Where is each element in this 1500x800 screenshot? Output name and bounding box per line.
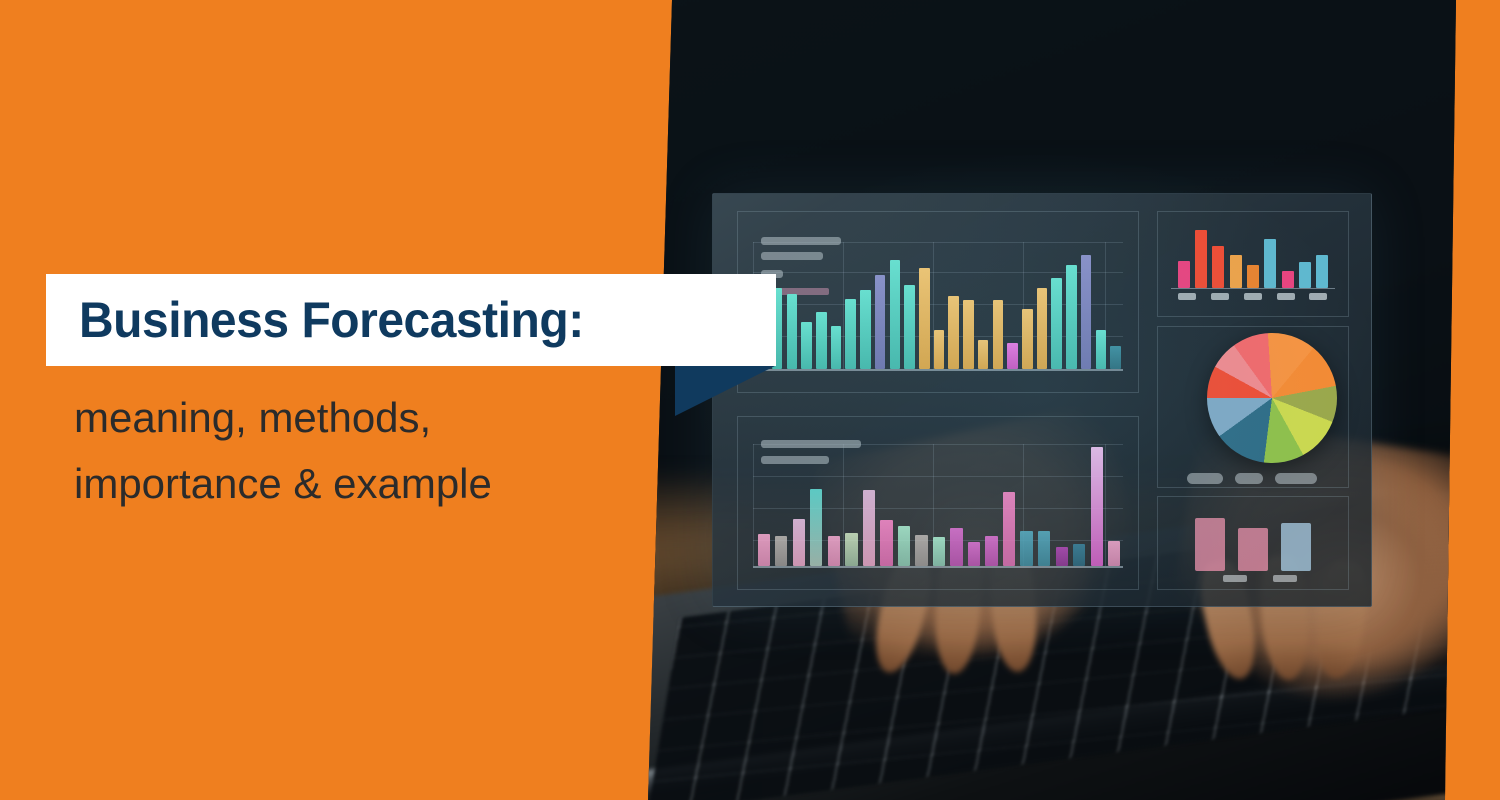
mini-bar-chart-ticks xyxy=(1171,293,1335,300)
bar xyxy=(1022,309,1033,369)
bar xyxy=(793,519,805,566)
bar xyxy=(898,526,910,566)
bar xyxy=(1230,255,1242,288)
axis-tick xyxy=(1223,575,1247,582)
bar xyxy=(816,312,827,369)
legend-pill xyxy=(1187,473,1223,484)
subtitle-line-1: meaning, methods, xyxy=(74,385,674,451)
bar xyxy=(828,536,840,566)
x-axis xyxy=(753,566,1123,568)
bar xyxy=(863,490,875,566)
subtitle-line-2: importance & example xyxy=(74,451,674,517)
mini-bar-chart-bars xyxy=(1175,224,1331,288)
bar xyxy=(919,268,930,369)
banner-root: Business Forecasting: meaning, methods, … xyxy=(0,0,1500,800)
pie-chart-legend xyxy=(1187,473,1327,484)
bar xyxy=(934,330,945,369)
axis-tick xyxy=(1178,293,1196,300)
page-title: Business Forecasting: xyxy=(79,291,584,349)
bar xyxy=(950,528,962,566)
bar xyxy=(1247,265,1259,288)
bar xyxy=(890,260,901,369)
bar xyxy=(978,340,989,369)
bar xyxy=(1056,547,1068,566)
bar xyxy=(948,296,959,369)
bar xyxy=(758,534,770,566)
bar xyxy=(1007,343,1018,369)
bar xyxy=(1195,518,1225,571)
bar xyxy=(1212,246,1224,288)
bar xyxy=(1003,492,1015,566)
axis-tick xyxy=(1273,575,1297,582)
hologram-dashboard xyxy=(712,193,1372,607)
bar xyxy=(845,299,856,369)
bar xyxy=(1264,239,1276,288)
legend-pill xyxy=(1275,473,1317,484)
pie-slices xyxy=(1207,333,1337,463)
bar xyxy=(1299,262,1311,288)
bar xyxy=(1178,261,1190,288)
bar xyxy=(1073,544,1085,566)
axis-tick xyxy=(1309,293,1327,300)
bar xyxy=(1316,255,1328,288)
title-block: Business Forecasting: xyxy=(46,274,776,366)
bar xyxy=(1238,528,1268,571)
axis-tick xyxy=(1277,293,1295,300)
bar xyxy=(1281,523,1311,571)
bar xyxy=(968,542,980,566)
bar xyxy=(915,535,927,566)
axis-tick xyxy=(1211,293,1229,300)
bar xyxy=(787,294,798,369)
x-axis xyxy=(1171,288,1335,289)
bar xyxy=(1091,447,1103,566)
bar xyxy=(1282,271,1294,288)
bar xyxy=(1081,255,1092,369)
main-bar-chart-bars xyxy=(755,239,1123,369)
bar xyxy=(1020,531,1032,566)
legend-pill xyxy=(1235,473,1263,484)
bar xyxy=(1066,265,1077,369)
bar xyxy=(1037,288,1048,369)
bar xyxy=(1110,346,1121,369)
bar xyxy=(904,285,915,370)
bar xyxy=(1096,330,1107,369)
title-tail-triangle xyxy=(675,366,775,416)
bar xyxy=(831,326,842,369)
bar xyxy=(993,300,1004,369)
bar xyxy=(845,533,857,566)
bar xyxy=(860,290,871,369)
bar xyxy=(875,275,886,369)
bar xyxy=(1195,230,1207,288)
bar xyxy=(963,300,974,369)
secondary-bar-chart-bars xyxy=(755,442,1123,566)
x-axis xyxy=(753,369,1123,371)
page-subtitle: meaning, methods, importance & example xyxy=(74,385,674,517)
gridline xyxy=(753,444,754,566)
bar xyxy=(1051,278,1062,369)
bar xyxy=(933,537,945,566)
bar xyxy=(810,489,822,566)
bar xyxy=(1108,541,1120,566)
mini-translucent-chart-ticks xyxy=(1213,575,1313,582)
mini-translucent-bar-chart-bars xyxy=(1189,509,1317,571)
bar xyxy=(1038,531,1050,566)
bar xyxy=(801,322,812,369)
bar xyxy=(880,520,892,566)
bar xyxy=(985,536,997,566)
bar xyxy=(775,536,787,566)
axis-tick xyxy=(1244,293,1262,300)
pie-chart xyxy=(1207,333,1337,463)
